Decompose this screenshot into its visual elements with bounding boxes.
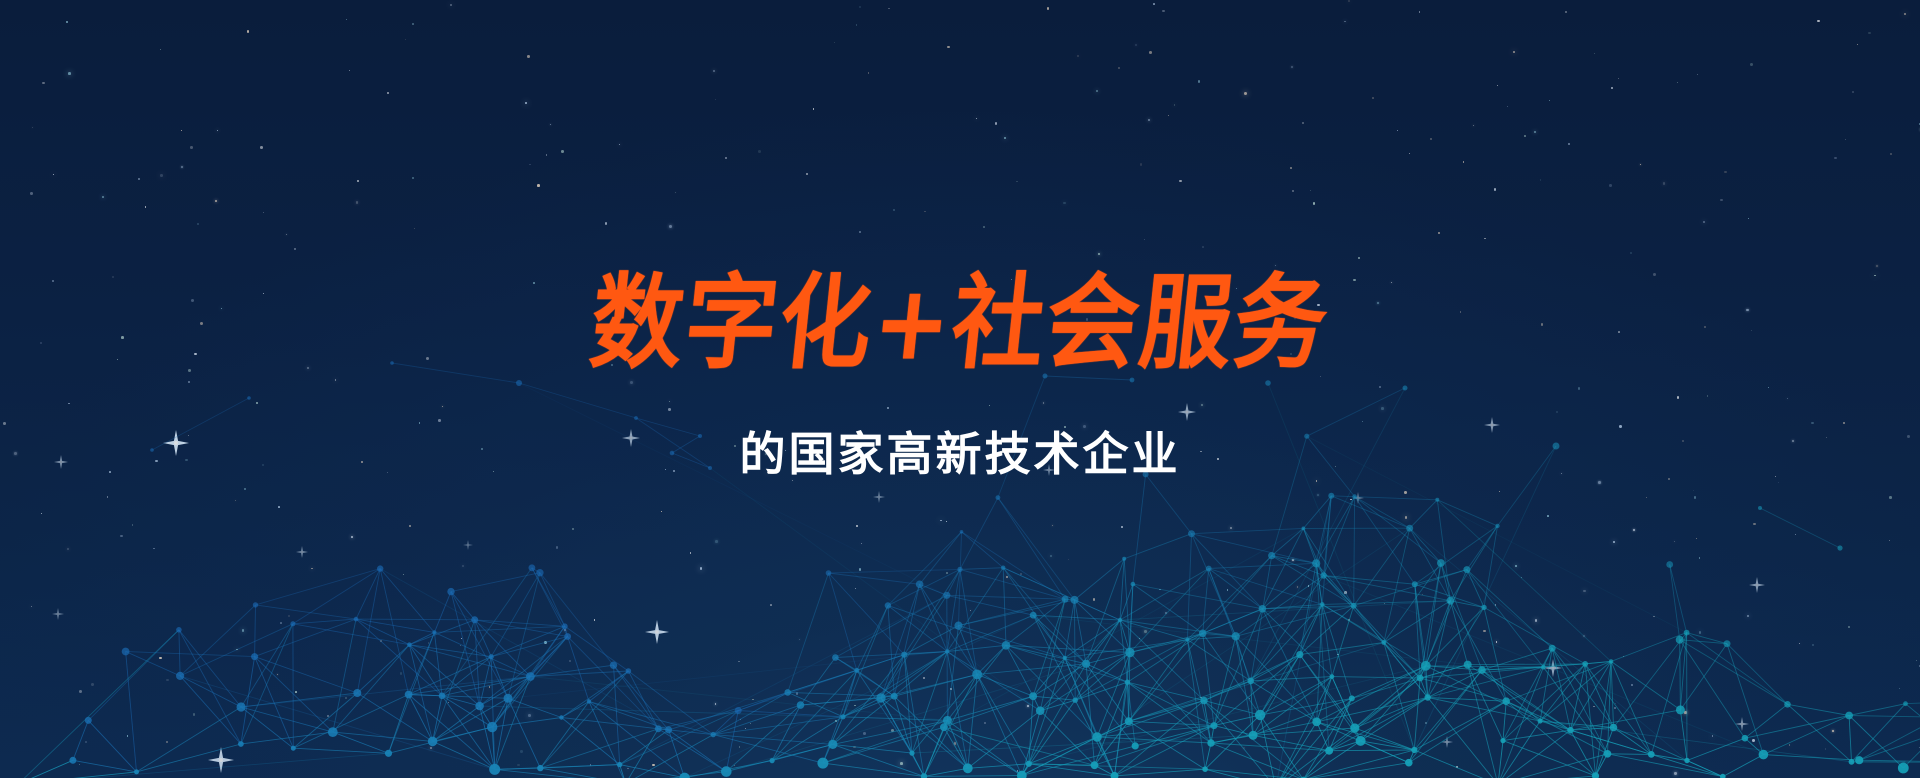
star-dot bbox=[53, 174, 54, 175]
four-point-star-sparkle bbox=[52, 608, 64, 620]
star-dot bbox=[891, 729, 894, 732]
star-dot bbox=[1845, 139, 1846, 140]
star-dot bbox=[327, 715, 330, 718]
star-dot bbox=[856, 525, 858, 527]
star-dot bbox=[1344, 591, 1347, 594]
star-dot bbox=[1292, 190, 1293, 191]
star-dot bbox=[1310, 190, 1311, 191]
star-dot bbox=[345, 697, 347, 699]
hero-banner: 数字化+社会服务 的国家高新技术企业 bbox=[0, 0, 1920, 778]
star-dot bbox=[1631, 684, 1633, 686]
star-dot bbox=[946, 572, 949, 575]
star-dot bbox=[1547, 515, 1549, 517]
star-dot bbox=[85, 741, 87, 743]
star-dot bbox=[1753, 523, 1756, 526]
star-dot bbox=[947, 46, 949, 48]
star-dot bbox=[946, 521, 947, 522]
star-dot bbox=[263, 212, 264, 213]
star-dot bbox=[725, 157, 727, 159]
star-dot bbox=[430, 747, 432, 749]
star-dot bbox=[1633, 529, 1635, 531]
star-dot bbox=[412, 23, 414, 25]
four-point-star-sparkle bbox=[296, 546, 308, 558]
star-dot bbox=[690, 552, 692, 554]
star-dot bbox=[1834, 157, 1837, 160]
star-dot bbox=[1344, 21, 1346, 23]
star-dot bbox=[1677, 82, 1678, 83]
star-dot bbox=[295, 691, 297, 693]
star-dot bbox=[1463, 161, 1465, 163]
star-dot bbox=[1521, 577, 1522, 578]
star-dot bbox=[1583, 635, 1585, 637]
star-dot bbox=[448, 702, 449, 703]
star-dot bbox=[1162, 10, 1165, 13]
star-dot bbox=[1148, 119, 1150, 121]
star-dot bbox=[1611, 87, 1613, 89]
star-dot bbox=[1663, 182, 1666, 185]
page-subtitle: 的国家高新技术企业 bbox=[0, 431, 1920, 477]
star-dot bbox=[1093, 598, 1096, 601]
star-dot bbox=[1750, 63, 1753, 66]
star-dot bbox=[1674, 772, 1676, 774]
star-dot bbox=[550, 124, 551, 125]
star-dot bbox=[1060, 759, 1061, 760]
star-dot bbox=[740, 719, 741, 720]
star-dot bbox=[627, 768, 628, 769]
star-dot bbox=[1159, 589, 1160, 590]
star-dot bbox=[1077, 55, 1079, 57]
star-dot bbox=[181, 130, 182, 131]
star-dot bbox=[153, 548, 155, 550]
star-dot bbox=[1540, 179, 1541, 180]
star-dot bbox=[854, 705, 855, 706]
star-dot bbox=[572, 528, 574, 530]
star-dot bbox=[546, 154, 548, 156]
star-dot bbox=[1889, 540, 1890, 541]
star-dot bbox=[346, 19, 348, 21]
star-dot bbox=[138, 178, 140, 180]
star-dot bbox=[400, 672, 403, 675]
star-dot bbox=[450, 4, 452, 6]
star-dot bbox=[1227, 589, 1229, 591]
star-dot bbox=[1456, 766, 1458, 768]
star-dot bbox=[1409, 153, 1410, 154]
star-dot bbox=[652, 764, 655, 767]
star-dot bbox=[1165, 612, 1168, 615]
star-dot bbox=[349, 70, 350, 71]
star-dot bbox=[1337, 654, 1338, 655]
star-dot bbox=[217, 130, 218, 131]
star-dot bbox=[1720, 199, 1723, 202]
star-dot bbox=[544, 641, 547, 644]
star-dot bbox=[260, 146, 263, 149]
star-dot bbox=[42, 82, 45, 85]
star-dot bbox=[1017, 770, 1018, 771]
star-dot bbox=[1549, 100, 1550, 101]
star-dot bbox=[1495, 604, 1496, 605]
star-dot bbox=[1016, 181, 1017, 182]
star-dot bbox=[715, 540, 718, 543]
star-dot bbox=[403, 574, 404, 575]
star-dot bbox=[1297, 586, 1299, 588]
star-dot bbox=[594, 619, 596, 621]
star-dot bbox=[796, 692, 799, 695]
four-point-star-sparkle bbox=[1441, 736, 1453, 748]
star-dot bbox=[66, 21, 68, 23]
star-dot bbox=[356, 201, 359, 204]
star-dot bbox=[1244, 92, 1247, 95]
star-dot bbox=[31, 606, 32, 607]
star-dot bbox=[525, 102, 527, 104]
star-dot bbox=[1524, 135, 1526, 137]
star-dot bbox=[1513, 51, 1515, 53]
star-dot bbox=[745, 728, 746, 729]
star-dot bbox=[1832, 730, 1834, 732]
star-dot bbox=[859, 6, 861, 8]
star-dot bbox=[242, 629, 244, 631]
star-dot bbox=[1095, 733, 1096, 734]
star-dot bbox=[853, 746, 856, 749]
star-dot bbox=[1149, 51, 1152, 54]
star-dot bbox=[351, 536, 353, 538]
star-dot bbox=[160, 174, 163, 177]
star-dot bbox=[752, 699, 754, 701]
star-dot bbox=[1868, 32, 1871, 35]
star-dot bbox=[409, 525, 412, 528]
star-dot bbox=[984, 722, 986, 724]
star-dot bbox=[1292, 559, 1294, 561]
star-dot bbox=[1848, 626, 1850, 628]
star-dot bbox=[166, 741, 168, 743]
star-dot bbox=[868, 72, 870, 74]
star-dot bbox=[461, 638, 463, 640]
star-dot bbox=[564, 629, 566, 631]
star-dot bbox=[738, 661, 740, 663]
star-dot bbox=[713, 70, 715, 72]
star-dot bbox=[412, 177, 414, 179]
star-dot bbox=[806, 173, 809, 176]
star-dot bbox=[940, 520, 942, 522]
star-dot bbox=[1795, 534, 1796, 535]
star-dot bbox=[675, 192, 676, 193]
star-dot bbox=[954, 742, 957, 745]
star-dot bbox=[1696, 538, 1697, 539]
star-dot bbox=[556, 546, 559, 549]
star-dot bbox=[834, 42, 835, 43]
star-dot bbox=[1422, 594, 1423, 595]
star-dot bbox=[1699, 557, 1700, 558]
star-dot bbox=[428, 642, 430, 644]
star-dot bbox=[1144, 630, 1147, 633]
star-dot bbox=[181, 166, 183, 168]
star-dot bbox=[1507, 106, 1508, 107]
four-point-star-sparkle bbox=[463, 540, 473, 550]
star-dot bbox=[923, 677, 925, 679]
star-dot bbox=[888, 8, 889, 9]
star-dot bbox=[1096, 90, 1098, 92]
star-dot bbox=[1684, 711, 1687, 714]
four-point-star-sparkle bbox=[1735, 717, 1749, 731]
star-dot bbox=[1534, 131, 1536, 133]
star-dot bbox=[1004, 137, 1006, 139]
star-dot bbox=[1583, 590, 1586, 593]
star-dot bbox=[1020, 573, 1022, 575]
star-dot bbox=[1090, 654, 1091, 655]
star-dot bbox=[1348, 0, 1350, 2]
star-dot bbox=[950, 688, 952, 690]
star-dot bbox=[1890, 153, 1892, 155]
star-dot bbox=[1384, 603, 1385, 604]
star-dot bbox=[900, 762, 903, 765]
star-dot bbox=[856, 24, 857, 25]
star-dot bbox=[215, 200, 217, 202]
star-dot bbox=[380, 640, 382, 642]
star-dot bbox=[1674, 541, 1675, 542]
star-dot bbox=[460, 645, 461, 646]
star-dot bbox=[1812, 644, 1814, 646]
star-dot bbox=[1052, 525, 1053, 526]
star-dot bbox=[247, 30, 250, 33]
star-dot bbox=[835, 720, 837, 722]
star-dot bbox=[1430, 138, 1432, 140]
star-dot bbox=[1857, 44, 1858, 45]
star-dot bbox=[1290, 167, 1292, 169]
star-dot bbox=[995, 122, 998, 125]
star-dot bbox=[924, 211, 926, 213]
star-dot bbox=[1799, 643, 1801, 645]
star-dot bbox=[590, 764, 592, 766]
star-dot bbox=[477, 708, 478, 709]
star-dot bbox=[520, 750, 523, 753]
star-dot bbox=[750, 723, 751, 724]
star-dot bbox=[1496, 641, 1497, 642]
star-dot bbox=[863, 732, 866, 735]
star-dot bbox=[1916, 660, 1918, 662]
star-dot bbox=[1200, 697, 1201, 698]
star-dot bbox=[715, 99, 716, 100]
star-dot bbox=[1614, 707, 1617, 710]
star-dot bbox=[1615, 703, 1616, 704]
star-dot bbox=[67, 548, 69, 550]
star-dot bbox=[1047, 7, 1050, 10]
star-dot bbox=[160, 49, 161, 50]
star-dot bbox=[1063, 202, 1066, 205]
star-dot bbox=[527, 55, 530, 58]
star-dot bbox=[1568, 143, 1570, 145]
star-dot bbox=[30, 192, 33, 195]
star-dot bbox=[893, 209, 895, 211]
star-dot bbox=[1118, 67, 1120, 69]
star-dot bbox=[799, 639, 800, 640]
star-dot bbox=[32, 127, 33, 128]
star-dot bbox=[193, 713, 196, 716]
star-dot bbox=[619, 144, 621, 146]
star-dot bbox=[1515, 565, 1517, 567]
star-dot bbox=[1230, 527, 1232, 529]
star-dot bbox=[770, 604, 772, 606]
star-dot bbox=[813, 108, 815, 110]
four-point-star-sparkle bbox=[1749, 577, 1765, 593]
star-dot bbox=[1825, 748, 1826, 749]
star-dot bbox=[1697, 74, 1698, 75]
star-dot bbox=[166, 679, 169, 682]
star-dot bbox=[1027, 705, 1029, 707]
star-dot bbox=[700, 567, 703, 570]
star-dot bbox=[1425, 722, 1427, 724]
star-dot bbox=[387, 92, 390, 95]
star-dot bbox=[1405, 516, 1408, 519]
star-dot bbox=[970, 610, 971, 611]
star-dot bbox=[1724, 171, 1727, 174]
star-dot bbox=[1372, 97, 1374, 99]
star-dot bbox=[529, 164, 530, 165]
star-dot bbox=[120, 535, 123, 538]
star-dot bbox=[734, 765, 736, 767]
star-dot bbox=[1593, 706, 1594, 707]
star-dot bbox=[1249, 698, 1250, 699]
star-dot bbox=[236, 649, 238, 651]
star-dot bbox=[405, 39, 406, 40]
star-dot bbox=[1139, 638, 1140, 639]
star-dot bbox=[1174, 104, 1176, 106]
hero-text-block: 数字化+社会服务 的国家高新技术企业 bbox=[0, 216, 1920, 515]
star-dot bbox=[1699, 631, 1701, 633]
star-dot bbox=[1747, 615, 1749, 617]
star-dot bbox=[1397, 130, 1398, 131]
star-dot bbox=[1243, 747, 1245, 749]
star-dot bbox=[1483, 630, 1486, 633]
star-dot bbox=[1535, 619, 1538, 622]
star-dot bbox=[1613, 541, 1615, 543]
star-dot bbox=[1565, 11, 1567, 13]
star-dot bbox=[1712, 735, 1713, 736]
star-dot bbox=[1618, 78, 1619, 79]
star-dot bbox=[1419, 11, 1421, 13]
star-dot bbox=[859, 568, 861, 570]
star-dot bbox=[1168, 115, 1169, 116]
star-dot bbox=[1653, 616, 1655, 618]
star-dot bbox=[739, 746, 740, 747]
star-dot bbox=[758, 150, 761, 153]
star-dot bbox=[1609, 184, 1612, 187]
star-dot bbox=[561, 150, 564, 153]
star-dot bbox=[357, 180, 359, 182]
star-dot bbox=[1198, 80, 1200, 82]
star-dot bbox=[1494, 188, 1497, 191]
star-dot bbox=[1006, 576, 1008, 578]
four-point-star-sparkle bbox=[208, 747, 234, 773]
star-dot bbox=[1852, 91, 1854, 93]
star-dot bbox=[537, 184, 540, 187]
star-dot bbox=[528, 714, 531, 717]
star-dot bbox=[1179, 180, 1182, 183]
four-point-star-sparkle bbox=[1544, 659, 1562, 677]
star-dot bbox=[1050, 555, 1053, 558]
star-dot bbox=[1904, 13, 1906, 15]
four-point-star-sparkle bbox=[645, 620, 669, 644]
page-title: 数字化+社会服务 bbox=[0, 272, 1920, 375]
star-dot bbox=[1121, 526, 1123, 528]
star-dot bbox=[1899, 688, 1900, 689]
star-dot bbox=[1473, 125, 1474, 126]
star-dot bbox=[190, 146, 193, 149]
star-dot bbox=[1068, 559, 1070, 561]
star-dot bbox=[79, 690, 82, 693]
star-dot bbox=[861, 543, 862, 544]
star-dot bbox=[311, 568, 313, 570]
star-dot bbox=[91, 683, 94, 686]
star-dot bbox=[132, 524, 134, 526]
star-dot bbox=[1789, 744, 1790, 745]
star-dot bbox=[1817, 20, 1820, 23]
star-dot bbox=[1135, 44, 1137, 46]
star-dot bbox=[489, 686, 491, 688]
star-dot bbox=[1640, 164, 1641, 165]
star-dot bbox=[102, 196, 104, 198]
star-dot bbox=[976, 118, 977, 119]
star-dot bbox=[1302, 122, 1304, 124]
star-dot bbox=[159, 657, 162, 660]
star-dot bbox=[288, 615, 290, 617]
star-dot bbox=[277, 674, 278, 675]
star-dot bbox=[855, 588, 856, 589]
star-dot bbox=[1291, 66, 1293, 68]
star-dot bbox=[517, 764, 520, 767]
star-dot bbox=[1497, 85, 1498, 86]
star-dot bbox=[1313, 202, 1316, 205]
star-dot bbox=[1752, 739, 1755, 742]
star-dot bbox=[1623, 656, 1624, 657]
star-dot bbox=[569, 660, 572, 663]
star-dot bbox=[127, 735, 128, 736]
star-dot bbox=[1308, 585, 1310, 587]
star-dot bbox=[145, 206, 147, 208]
star-dot bbox=[1594, 53, 1595, 54]
star-dot bbox=[1140, 163, 1143, 166]
star-dot bbox=[1153, 3, 1155, 5]
star-dot bbox=[462, 565, 464, 567]
star-dot bbox=[79, 764, 80, 765]
star-dot bbox=[1348, 619, 1350, 621]
star-dot bbox=[715, 703, 717, 705]
star-dot bbox=[280, 622, 282, 624]
star-dot bbox=[68, 72, 71, 75]
star-dot bbox=[1448, 601, 1450, 603]
